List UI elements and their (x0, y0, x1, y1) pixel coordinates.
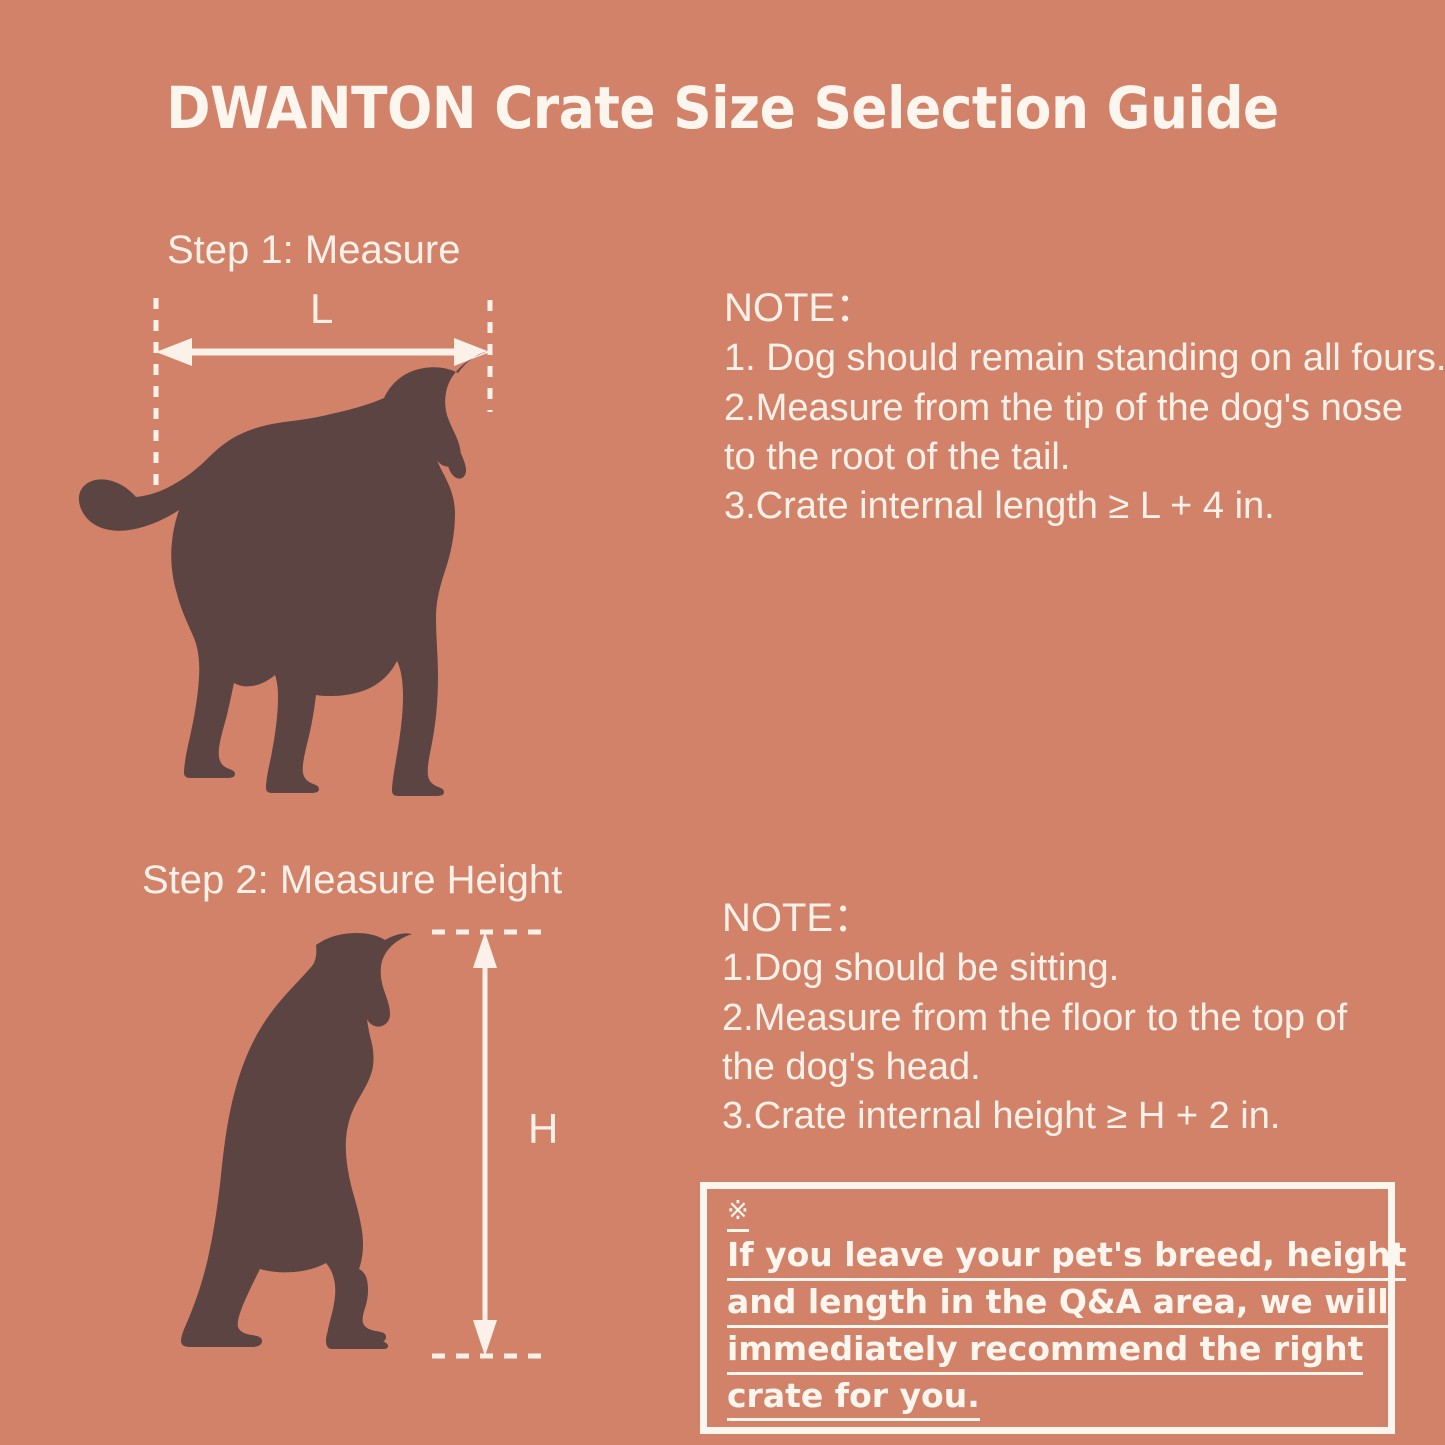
qa-callout-line-1: If you leave your pet's breed, height (727, 1234, 1406, 1281)
qa-callout-line-2: and length in the Q&A area, we will (727, 1281, 1389, 1328)
height-arrow (473, 932, 497, 1356)
note-2-line-1: 1.Dog should be sitting. (722, 944, 1347, 993)
qa-callout-line-4: crate for you. (727, 1375, 980, 1422)
note-2-heading: NOTE： (722, 893, 1347, 944)
qa-callout-content: ※ If you leave your pet's breed, height … (727, 1197, 1380, 1421)
page-title: DWANTON Crate Size Selection Guide (58, 74, 1387, 142)
sitting-dog-silhouette (181, 933, 412, 1347)
length-arrow (156, 338, 490, 366)
note-2-line-3: the dog's head. (722, 1043, 1347, 1092)
qa-callout-box: ※ If you leave your pet's breed, height … (700, 1182, 1395, 1434)
note-block-step-2: NOTE： 1.Dog should be sitting. 2.Measure… (722, 893, 1347, 1142)
step-1-label: Step 1: Measure (167, 228, 461, 273)
note-1-heading: NOTE： (724, 283, 1445, 334)
note-1-line-2: 2.Measure from the tip of the dog's nose (724, 384, 1445, 433)
note-block-step-1: NOTE： 1. Dog should remain standing on a… (724, 283, 1445, 532)
standing-dog-silhouette (79, 351, 488, 796)
note-1-line-4: 3.Crate internal length ≥ L + 4 in. (724, 482, 1445, 531)
qa-callout-line-3: immediately recommend the right (727, 1328, 1363, 1375)
height-dimension-letter: H (528, 1108, 558, 1150)
step-2-label: Step 2: Measure Height (142, 858, 562, 903)
crate-size-guide-poster: DWANTON Crate Size Selection Guide Step … (0, 0, 1445, 1445)
note-1-line-1: 1. Dog should remain standing on all fou… (724, 334, 1445, 383)
sitting-dog-paw (326, 1330, 388, 1349)
reference-mark-icon: ※ (727, 1197, 749, 1232)
note-1-line-3: to the root of the tail. (724, 433, 1445, 482)
note-2-line-4: 3.Crate internal height ≥ H + 2 in. (722, 1092, 1347, 1141)
length-dimension-letter: L (310, 288, 333, 330)
note-2-line-2: 2.Measure from the floor to the top of (722, 994, 1347, 1043)
